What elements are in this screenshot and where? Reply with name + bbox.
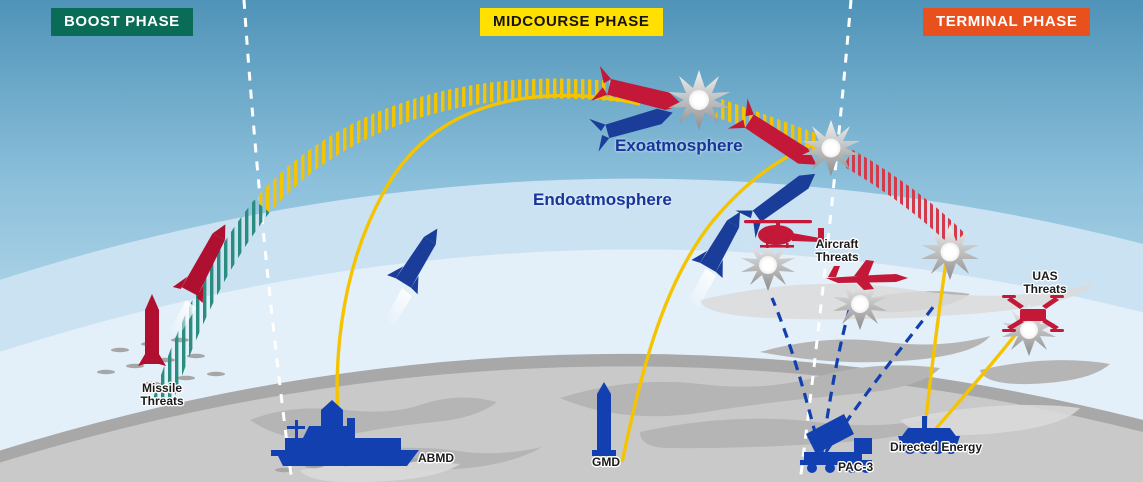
phase-label-boost: BOOST PHASE [51, 8, 193, 36]
missile-threats-label-line2: Threats [132, 395, 192, 408]
directed-energy-label: Directed Energy [890, 441, 982, 454]
phase-label-midcourse: MIDCOURSE PHASE [480, 8, 663, 36]
endoatmosphere-label: Endoatmosphere [533, 190, 672, 210]
aircraft-threats-label: Aircraft Threats [806, 238, 868, 264]
pac3-label: PAC-3 [838, 461, 873, 474]
uas-threats-label: UAS Threats [1018, 270, 1072, 296]
missile-threats-label: Missile Threats [132, 382, 192, 408]
aircraft-threats-label-line2: Threats [806, 251, 868, 264]
exoatmosphere-label: Exoatmosphere [615, 136, 743, 156]
missile-defense-diagram: BOOST PHASE MIDCOURSE PHASE TERMINAL PHA… [0, 0, 1143, 482]
diagram-canvas [0, 0, 1143, 482]
uas-threats-label-line2: Threats [1018, 283, 1072, 296]
abmd-label: ABMD [418, 452, 454, 465]
phase-label-terminal: TERMINAL PHASE [923, 8, 1090, 36]
gmd-label: GMD [592, 456, 620, 469]
